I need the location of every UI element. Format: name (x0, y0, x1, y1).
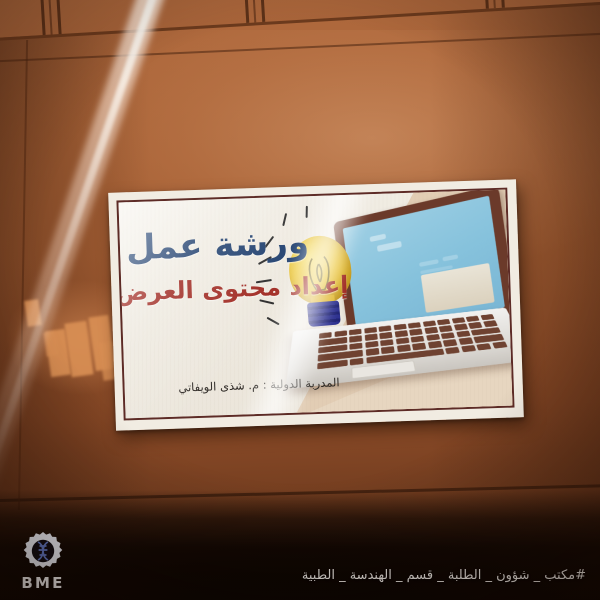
poster: ورشة عمل إعداد محتوى العرض المدربة الدول… (108, 179, 524, 430)
bulb-ray (306, 206, 308, 218)
poster-title: ورشة عمل (125, 222, 309, 268)
poster-content: ورشة عمل إعداد محتوى العرض المدربة الدول… (116, 188, 514, 421)
gear-dna-icon (21, 529, 65, 573)
footer-bar: BME #مكتب _ شؤون _ الطلبة _ قسم _ الهندس… (0, 528, 600, 600)
footer-hashtag: #مكتب _ شؤون _ الطلبة _ قسم _ الهندسة _ … (302, 568, 586, 583)
bme-logo-text: BME (12, 574, 74, 592)
bulb-base (307, 300, 341, 327)
photo-canvas: ورشة عمل إعداد محتوى العرض المدربة الدول… (0, 0, 600, 600)
bme-logo: BME (12, 529, 74, 592)
